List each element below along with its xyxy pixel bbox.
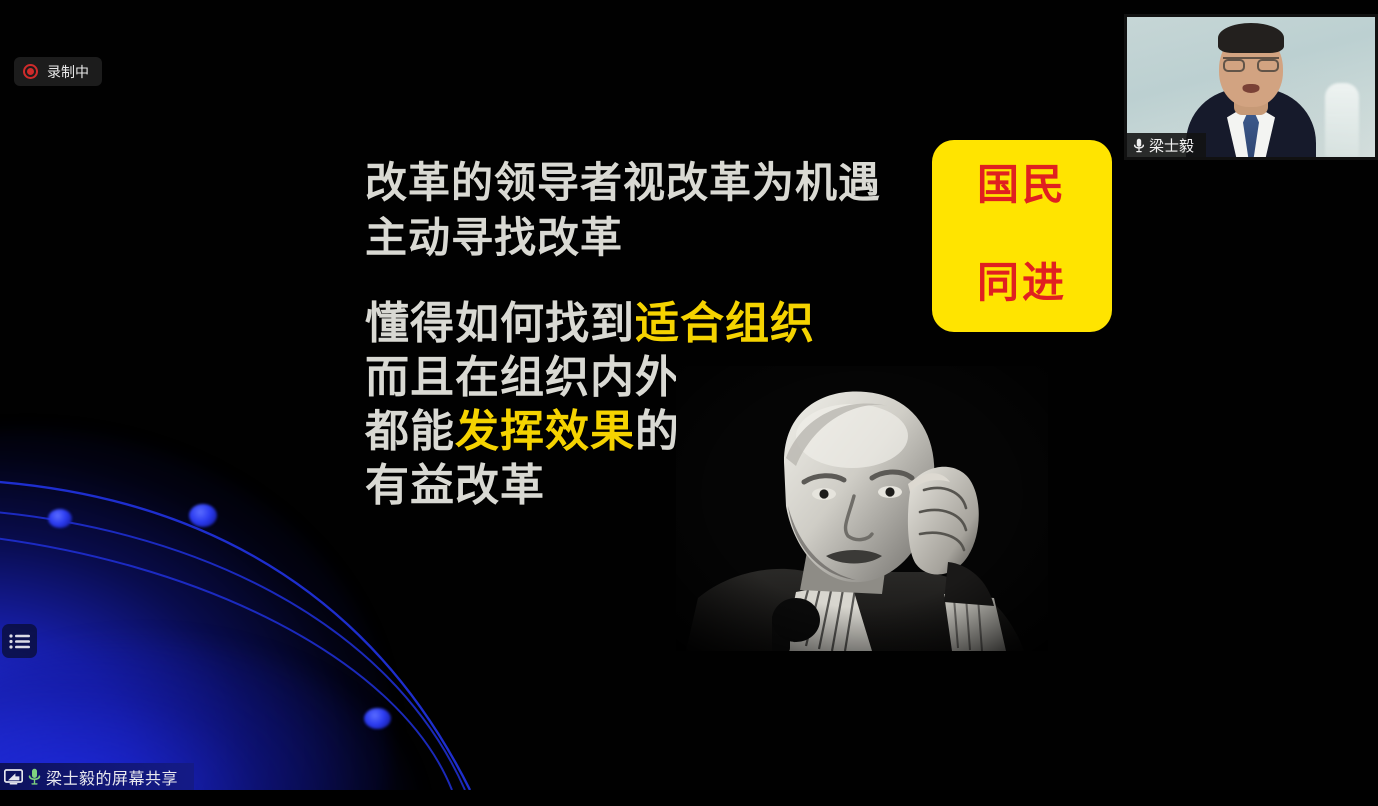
participant-name-label: 梁士毅 <box>1149 135 1194 156</box>
portrait-photo-graphic <box>676 366 1048 651</box>
arc-dot-2 <box>189 504 217 527</box>
microphone-icon <box>28 768 41 785</box>
slide-line-5-highlight: 发挥效果 <box>455 406 635 457</box>
microphone-icon <box>1133 138 1145 153</box>
screen-share-status-bar[interactable]: 梁士毅的屏幕共享 <box>0 763 194 790</box>
slide-line-3: 懂得如何找到适合组织 <box>365 297 965 351</box>
slide-paragraph-1: 改革的领导者视改革为机遇 主动寻找改革 <box>365 155 965 265</box>
slide-line-1: 改革的领导者视改革为机遇 <box>365 155 965 210</box>
portrait-photo <box>676 366 1048 651</box>
recording-indicator[interactable]: 录制中 <box>14 57 102 86</box>
slide-line-3-plain: 懂得如何找到 <box>365 298 635 349</box>
list-view-icon <box>9 634 30 649</box>
slide-line-5-plain-a: 都能 <box>365 406 455 457</box>
screen-share-status-label: 梁士毅的屏幕共享 <box>46 765 178 789</box>
arc-dot-3 <box>364 708 391 729</box>
blue-glow-decoration <box>0 430 390 790</box>
slide-line-3-highlight: 适合组织 <box>635 298 815 349</box>
logo-card-line-1: 国民 <box>977 162 1067 208</box>
arc-dot-1 <box>48 509 72 528</box>
slide-line-2: 主动寻找改革 <box>365 210 965 265</box>
participant-video-thumbnail[interactable]: 梁士毅 <box>1124 14 1378 160</box>
logo-card: 国民 同进 <box>932 140 1112 332</box>
participant-mouth <box>1243 84 1260 93</box>
logo-card-line-2: 同进 <box>977 260 1067 306</box>
slide-line-5-plain-b: 的 <box>635 406 680 457</box>
letterbox-bar <box>0 790 1378 806</box>
participant-name-bar: 梁士毅 <box>1127 133 1206 157</box>
recording-label: 录制中 <box>47 62 89 82</box>
list-view-button[interactable] <box>2 624 37 658</box>
zoom-shared-screen: 改革的领导者视改革为机遇 主动寻找改革 懂得如何找到适合组织 而且在组织内外 都… <box>0 0 1378 806</box>
record-dot-icon <box>23 64 38 79</box>
background-lamp-decoration <box>1325 83 1359 157</box>
participant-hair <box>1218 23 1284 53</box>
screen-share-icon <box>4 769 23 785</box>
participant-glasses <box>1223 57 1279 71</box>
